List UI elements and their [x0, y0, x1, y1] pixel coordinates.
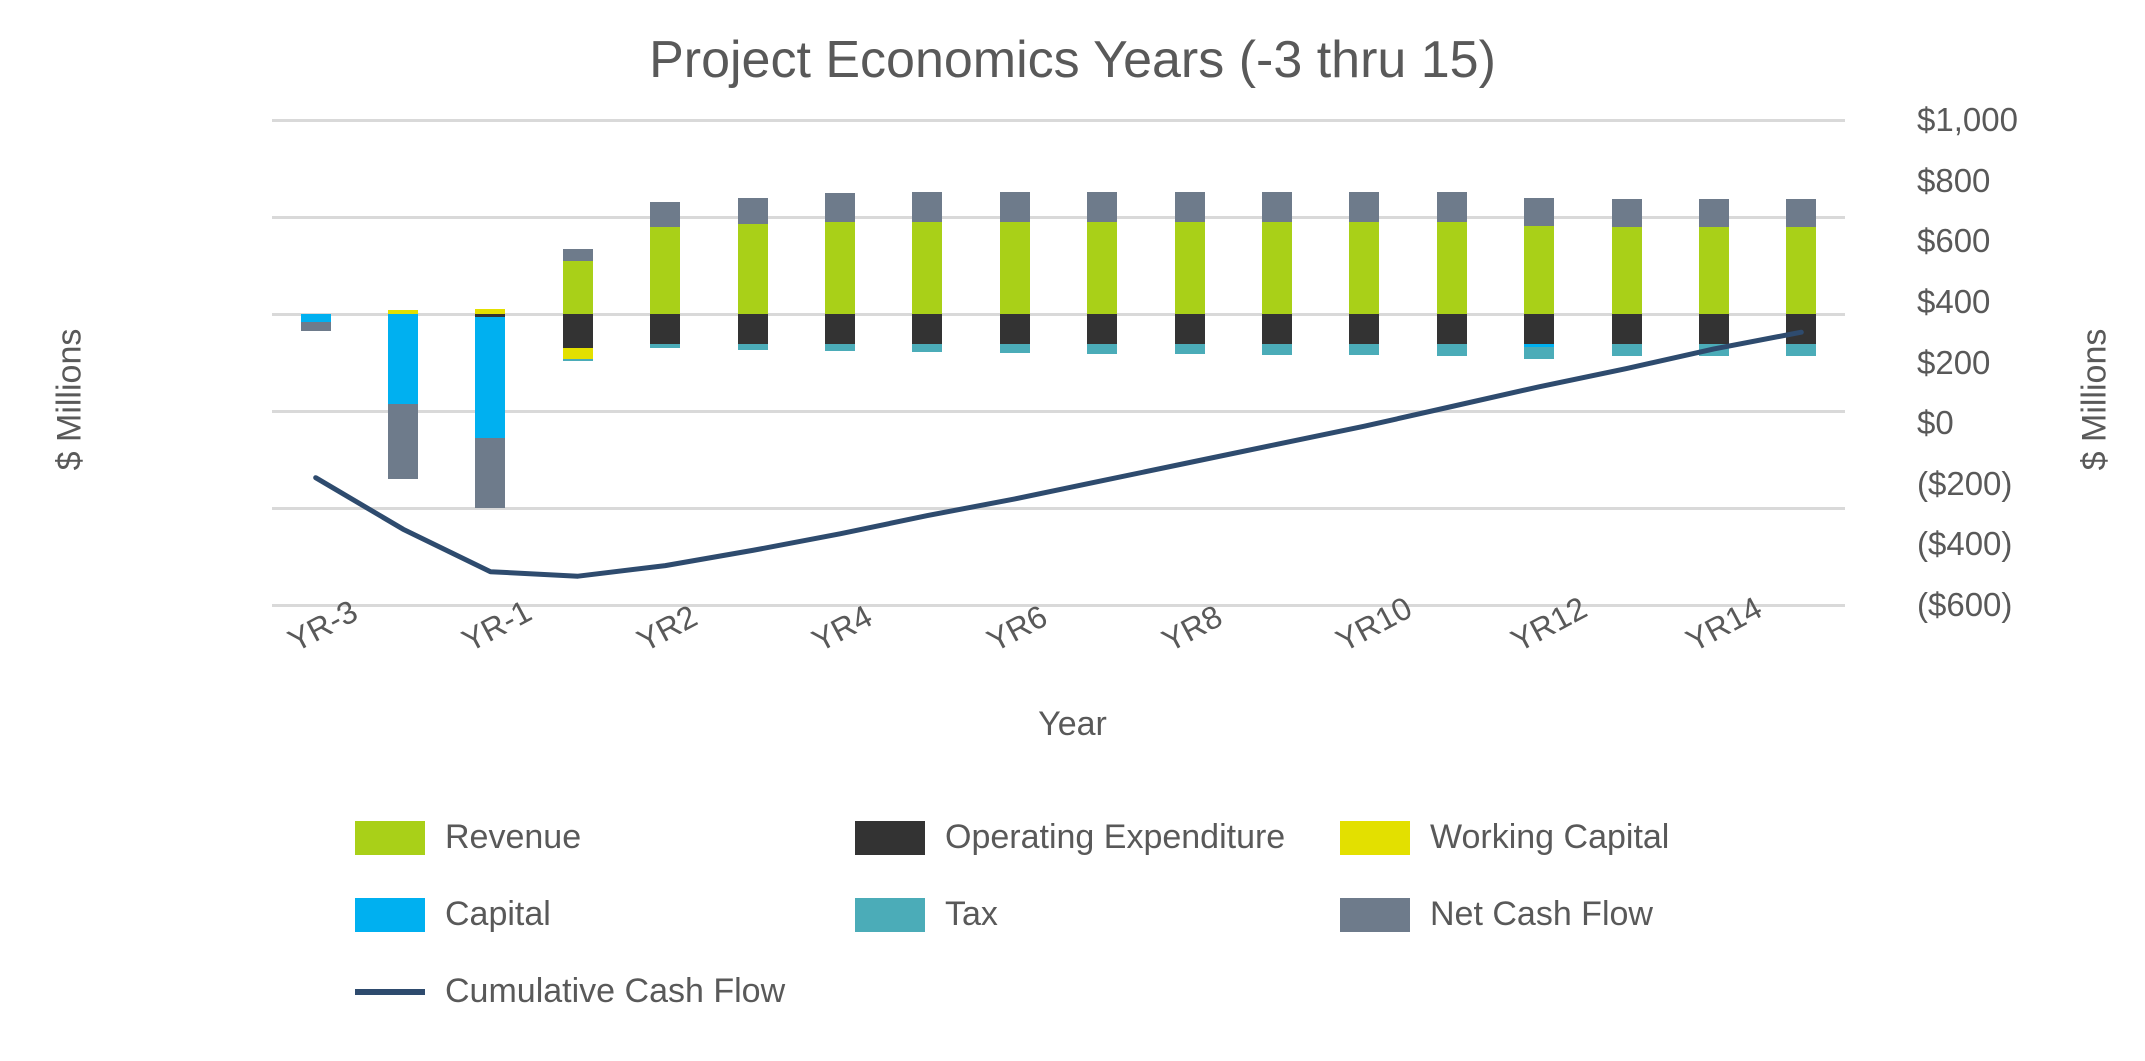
bar-segment	[825, 193, 855, 222]
bar-segment	[650, 202, 680, 226]
legend-color-swatch	[1340, 898, 1410, 932]
bar-segment	[1087, 192, 1117, 222]
x-axis-tick-label: YR8	[1156, 598, 1228, 660]
bar-segment	[1524, 314, 1554, 344]
cumulative-cash-flow-line	[272, 120, 1845, 605]
bar-segment	[1087, 222, 1117, 314]
y-axis-title-left: $ Millions	[51, 270, 90, 530]
legend-item[interactable]: Capital	[355, 895, 551, 934]
bar-segment	[825, 314, 855, 344]
bar-segment	[1349, 192, 1379, 222]
y-axis-right-tick-label: $400	[1877, 283, 1990, 321]
y-axis-right-tick-label: ($600)	[1877, 586, 2012, 624]
bar-segment	[1612, 199, 1642, 227]
legend-label: Net Cash Flow	[1430, 895, 1653, 934]
legend-item[interactable]: Cumulative Cash Flow	[355, 972, 785, 1011]
y-axis-right-tick-label: $200	[1877, 344, 1990, 382]
bar-segment	[563, 359, 593, 361]
bar-segment	[1087, 314, 1117, 344]
y-axis-left-ticks: $400$200$0($200)($400)($600)	[272, 120, 273, 605]
gridline	[272, 410, 1845, 413]
bar-segment	[1699, 199, 1729, 227]
legend-label: Capital	[445, 895, 551, 934]
x-axis-tick-label: YR4	[806, 598, 878, 660]
bar-segment	[388, 404, 418, 479]
legend-label: Operating Expenditure	[945, 818, 1285, 857]
bar-segment	[563, 261, 593, 314]
bar-segment	[650, 344, 680, 348]
bar-segment	[1262, 192, 1292, 222]
bar-segment	[1000, 344, 1030, 353]
bar-segment	[1000, 314, 1030, 344]
legend-label: Working Capital	[1430, 818, 1669, 857]
bar-segment	[912, 344, 942, 352]
x-axis-title: Year	[0, 705, 2145, 744]
gridline	[272, 119, 1845, 122]
legend-item[interactable]: Net Cash Flow	[1340, 895, 1653, 934]
bar-segment	[738, 224, 768, 314]
bar-segment	[1349, 222, 1379, 314]
legend-label: Cumulative Cash Flow	[445, 972, 785, 1011]
bar-segment	[1612, 314, 1642, 344]
legend-item[interactable]: Operating Expenditure	[855, 818, 1285, 857]
chart-title: Project Economics Years (-3 thru 15)	[0, 30, 2145, 90]
x-axis-tick-label: YR10	[1330, 589, 1418, 659]
legend-line-marker	[355, 989, 425, 995]
bar-segment	[1786, 314, 1816, 344]
bar-segment	[1349, 344, 1379, 355]
legend-color-swatch	[855, 898, 925, 932]
y-axis-right-tick-label: $800	[1877, 162, 1990, 200]
x-axis-tick-label: YR2	[631, 598, 703, 660]
y-axis-right-tick-label: ($400)	[1877, 525, 2012, 563]
y-axis-right-ticks: $1,000$800$600$400$200$0($200)($400)($60…	[1877, 120, 2145, 605]
y-axis-right-tick-label: $1,000	[1877, 101, 2018, 139]
bar-segment	[912, 314, 942, 344]
x-axis-tick-label: YR12	[1505, 589, 1593, 659]
bar-segment	[1437, 344, 1467, 356]
bar-segment	[1786, 344, 1816, 356]
bar-segment	[563, 249, 593, 261]
bar-segment	[1524, 226, 1554, 314]
bar-segment	[1262, 344, 1292, 355]
bar-segment	[738, 344, 768, 350]
bar-segment	[301, 322, 331, 331]
bar-segment	[1175, 344, 1205, 354]
gridline	[272, 507, 1845, 510]
bar-segment	[650, 314, 680, 344]
bar-segment	[1087, 344, 1117, 354]
legend-item[interactable]: Tax	[855, 895, 998, 934]
chart-legend: RevenueOperating ExpenditureWorking Capi…	[0, 818, 2145, 1018]
bar-segment	[1175, 314, 1205, 344]
bar-segment	[1437, 222, 1467, 314]
cumulative-cash-flow-polyline	[316, 332, 1802, 576]
gridline	[272, 313, 1845, 316]
bar-segment	[650, 227, 680, 314]
bar-segment	[301, 314, 331, 322]
bar-segment	[738, 314, 768, 344]
bar-segment	[388, 314, 418, 404]
gridline	[272, 216, 1845, 219]
x-axis-tick-label: YR14	[1680, 589, 1768, 659]
bar-segment	[1524, 347, 1554, 359]
legend-color-swatch	[355, 898, 425, 932]
legend-label: Tax	[945, 895, 998, 934]
bar-segment	[738, 198, 768, 225]
bar-segment	[1612, 344, 1642, 356]
y-axis-right-tick-label: $600	[1877, 222, 1990, 260]
plot-area: $400$200$0($200)($400)($600) $1,000$800$…	[272, 120, 1845, 605]
bar-segment	[912, 222, 942, 314]
bar-segment	[1786, 227, 1816, 314]
bar-segment	[1612, 227, 1642, 314]
bar-segment	[1000, 222, 1030, 314]
bar-segment	[825, 222, 855, 314]
bar-segment	[475, 317, 505, 438]
legend-item[interactable]: Working Capital	[1340, 818, 1669, 857]
bar-segment	[1699, 227, 1729, 314]
bar-segment	[1437, 192, 1467, 222]
bar-segment	[1000, 192, 1030, 222]
legend-color-swatch	[1340, 821, 1410, 855]
legend-color-swatch	[855, 821, 925, 855]
legend-color-swatch	[355, 821, 425, 855]
bar-segment	[825, 344, 855, 351]
legend-label: Revenue	[445, 818, 581, 857]
bar-segment	[1524, 198, 1554, 226]
bar-segment	[1699, 344, 1729, 356]
bar-segment	[1262, 222, 1292, 314]
y-axis-right-tick-label: ($200)	[1877, 465, 2012, 503]
bar-segment	[1437, 314, 1467, 344]
chart-root: Project Economics Years (-3 thru 15) $ M…	[0, 0, 2145, 1061]
bar-segment	[475, 438, 505, 508]
x-axis-tick-label: YR6	[981, 598, 1053, 660]
bar-segment	[1175, 192, 1205, 222]
bar-segment	[1175, 222, 1205, 314]
bar-segment	[1349, 314, 1379, 344]
bar-segment	[1262, 314, 1292, 344]
bar-segment	[912, 192, 942, 222]
bar-segment	[563, 314, 593, 348]
bar-segment	[1786, 199, 1816, 227]
legend-item[interactable]: Revenue	[355, 818, 581, 857]
y-axis-right-tick-label: $0	[1877, 404, 1954, 442]
bar-segment	[1699, 314, 1729, 344]
bar-segment	[563, 348, 593, 359]
